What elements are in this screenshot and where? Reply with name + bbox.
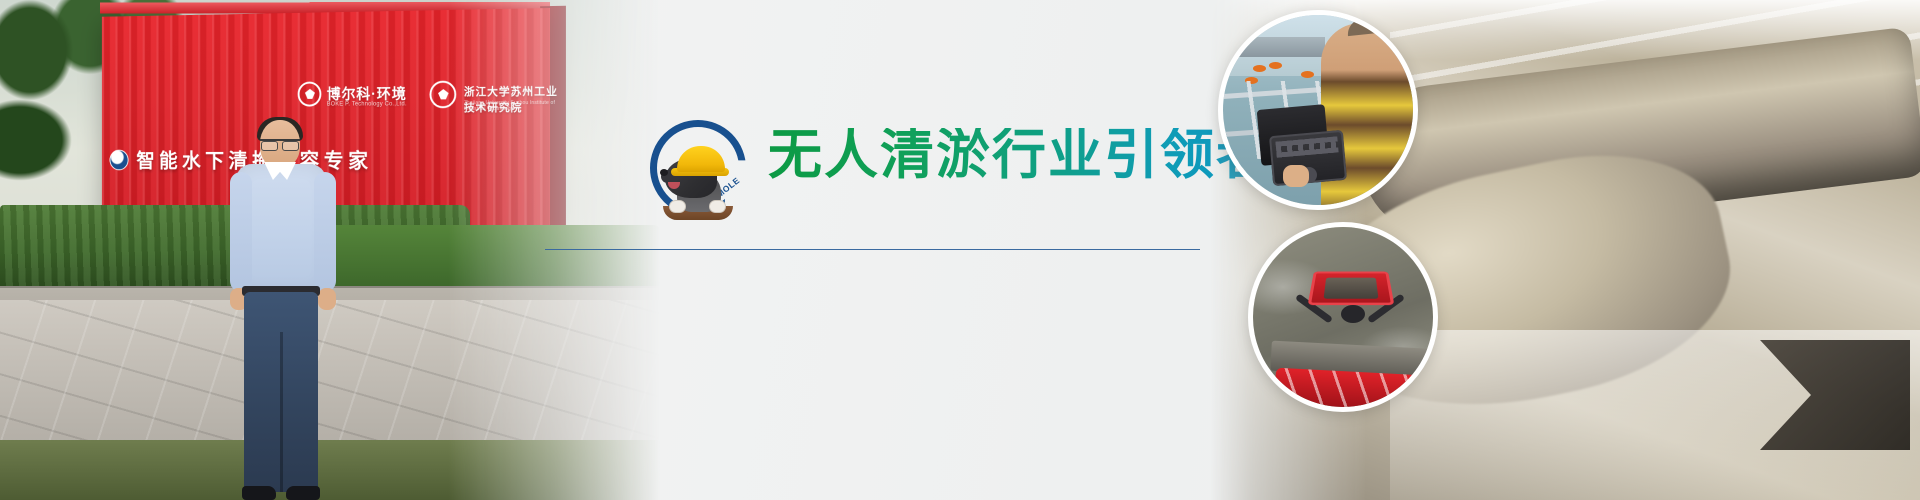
person-left-shoe — [242, 486, 276, 500]
left-photo: 博尔科·环境 BOKE P. Technology Co.,Ltd. 浙江大学苏… — [0, 0, 660, 500]
person-right-shoe — [286, 486, 320, 500]
float-buoy — [1301, 71, 1314, 78]
person-right-hand — [318, 288, 336, 310]
center-content: MUD MOLE 无人清淤行业引领者 — [660, 0, 1260, 500]
plant-building — [1229, 37, 1325, 57]
mole-nose — [660, 169, 668, 176]
robot-wheel — [1341, 305, 1365, 323]
container-branding: 博尔科·环境 BOKE P. Technology Co.,Ltd. 浙江大学苏… — [249, 76, 560, 116]
eyeglasses-icon — [260, 139, 300, 147]
right-photo-collage — [1200, 0, 1920, 500]
container-brand-en: BOKE P. Technology Co.,Ltd. — [327, 101, 407, 107]
auger-head — [1274, 368, 1438, 412]
person-trousers — [244, 292, 318, 492]
boke-emblem-icon — [298, 82, 322, 107]
operator-remote-control-photo — [1218, 10, 1418, 210]
slogan-badge-icon — [110, 150, 129, 171]
mole-right-paw — [709, 200, 726, 213]
container-partner-en: Zhejiang University Suzhou Institute of … — [464, 100, 560, 112]
operator-hand — [1283, 165, 1309, 187]
university-emblem-icon — [430, 81, 457, 109]
float-buoy — [1269, 62, 1282, 69]
person-left-arm — [230, 172, 252, 292]
person-right-arm — [314, 172, 336, 292]
divider-line — [545, 249, 1200, 250]
hero-banner: 博尔科·环境 BOKE P. Technology Co.,Ltd. 浙江大学苏… — [0, 0, 1920, 500]
mole-left-paw — [669, 200, 686, 213]
float-buoy — [1253, 65, 1266, 72]
headline-text: 无人清淤行业引领者 — [768, 128, 1272, 182]
dredging-robot-body — [1308, 272, 1395, 306]
mole-mascot-icon — [663, 142, 733, 212]
mud-mole-logo: MUD MOLE — [650, 120, 746, 216]
operator-person — [1321, 23, 1417, 210]
dredging-robot-photo — [1248, 222, 1438, 412]
standing-person — [228, 120, 338, 500]
hard-hat-icon — [677, 146, 725, 172]
